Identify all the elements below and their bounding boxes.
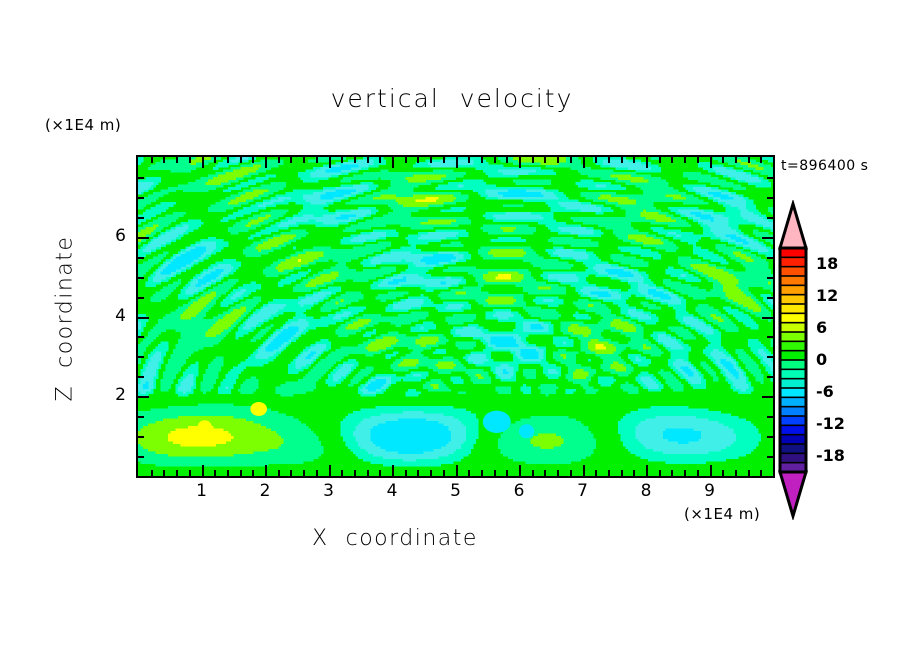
x-tick-mark (506, 470, 508, 476)
y-tick-mark (767, 197, 773, 199)
x-tick-label: 9 (695, 481, 725, 501)
colorbar-band (780, 425, 806, 435)
x-tick-label: 4 (377, 481, 407, 501)
colorbar-band (780, 332, 806, 342)
x-tick-mark (456, 157, 458, 168)
x-tick-mark (760, 470, 762, 476)
x-tick-mark (532, 470, 534, 476)
x-tick-mark (722, 157, 724, 163)
colorbar-band (780, 369, 806, 379)
x-tick-mark (468, 157, 470, 163)
x-tick-mark (646, 157, 648, 168)
colorbar-band (780, 397, 806, 407)
x-tick-mark (443, 470, 445, 476)
colorbar-band (780, 360, 806, 370)
x-tick-mark (748, 157, 750, 163)
x-tick-mark (367, 470, 369, 476)
x-tick-mark (341, 470, 343, 476)
x-tick-mark (671, 157, 673, 163)
colorbar-band (780, 323, 806, 333)
y-tick-mark (138, 396, 149, 398)
contour-core (483, 411, 511, 433)
x-tick-mark (392, 157, 394, 168)
colorbar-band (780, 388, 806, 398)
x-tick-mark (583, 157, 585, 168)
x-tick-mark (595, 470, 597, 476)
x-tick-mark (456, 465, 458, 476)
colorbar-band (780, 276, 806, 286)
x-tick-mark (290, 470, 292, 476)
x-tick-mark (252, 470, 254, 476)
colorbar-band (780, 257, 806, 267)
x-tick-mark (176, 470, 178, 476)
x-tick-mark (329, 157, 331, 168)
x-tick-mark (481, 157, 483, 163)
x-tick-label: 7 (568, 481, 598, 501)
colorbar-over-arrow (780, 204, 806, 248)
colorbar-gradient (770, 200, 900, 520)
x-tick-mark (494, 157, 496, 163)
y-tick-mark (138, 217, 144, 219)
colorbar-band (780, 453, 806, 463)
x-tick-mark (506, 157, 508, 163)
colorbar-band (780, 416, 806, 426)
y-tick-mark (138, 277, 144, 279)
colorbar-band (780, 285, 806, 295)
colorbar-band (780, 341, 806, 351)
x-tick-mark (684, 470, 686, 476)
colorbar-tick-label: 18 (816, 254, 838, 273)
colorbar-band (780, 313, 806, 323)
x-tick-mark (329, 465, 331, 476)
x-tick-mark (710, 465, 712, 476)
x-tick-mark (760, 157, 762, 163)
y-tick-label: 2 (96, 385, 126, 405)
y-tick-mark (138, 257, 144, 259)
colorbar-band (780, 407, 806, 417)
x-tick-mark (659, 470, 661, 476)
x-tick-mark (608, 470, 610, 476)
x-tick-mark (570, 157, 572, 163)
colorbar-band (780, 295, 806, 305)
x-tick-mark (202, 465, 204, 476)
x-tick-mark (316, 157, 318, 163)
chart-root: vertical velocity (×1E4 m) (×1E4 m) t=89… (0, 0, 904, 654)
x-tick-mark (557, 157, 559, 163)
x-tick-mark (430, 470, 432, 476)
y-tick-mark (138, 317, 149, 319)
x-tick-mark (481, 470, 483, 476)
x-tick-mark (595, 157, 597, 163)
x-tick-mark (303, 157, 305, 163)
y-tick-mark (138, 376, 144, 378)
x-tick-mark (684, 157, 686, 163)
x-tick-label: 1 (187, 481, 217, 501)
x-tick-mark (570, 470, 572, 476)
y-tick-mark (138, 177, 144, 179)
x-tick-mark (252, 157, 254, 163)
colorbar-band (780, 304, 806, 314)
x-tick-mark (354, 470, 356, 476)
y-tick-label: 4 (96, 306, 126, 326)
colorbar-tick-label: 6 (816, 318, 827, 337)
x-tick-mark (633, 470, 635, 476)
y-tick-mark (138, 197, 144, 199)
y-tick-mark (138, 297, 144, 299)
x-tick-mark (621, 470, 623, 476)
colorbar-tick-label: 0 (816, 350, 827, 369)
y-tick-mark (138, 336, 144, 338)
y-axis-unit-label: (×1E4 m) (45, 116, 121, 134)
x-tick-mark (341, 157, 343, 163)
x-tick-mark (240, 157, 242, 163)
x-tick-mark (633, 157, 635, 163)
contour-core (519, 424, 534, 438)
colorbar-band (780, 435, 806, 445)
colorbar-tick-label: 12 (816, 286, 838, 305)
x-tick-mark (748, 470, 750, 476)
x-tick-mark (202, 157, 204, 168)
x-tick-mark (151, 157, 153, 163)
x-tick-mark (354, 157, 356, 163)
x-tick-mark (290, 157, 292, 163)
x-tick-mark (392, 465, 394, 476)
plot-area (136, 155, 775, 478)
x-tick-mark (519, 157, 521, 168)
y-tick-mark (138, 416, 144, 418)
x-tick-label: 8 (631, 481, 661, 501)
x-axis-title: X coordinate (0, 526, 790, 551)
y-tick-mark (138, 456, 144, 458)
x-tick-mark (278, 157, 280, 163)
x-tick-mark (163, 157, 165, 163)
colorbar-tick-label: -12 (816, 414, 845, 433)
x-tick-mark (417, 470, 419, 476)
x-tick-mark (544, 157, 546, 163)
x-tick-mark (519, 465, 521, 476)
x-tick-mark (227, 157, 229, 163)
contour-field (138, 157, 773, 476)
x-tick-mark (494, 470, 496, 476)
x-tick-label: 6 (504, 481, 534, 501)
x-tick-mark (710, 157, 712, 168)
colorbar-under-arrow (780, 472, 806, 516)
y-tick-mark (138, 436, 144, 438)
y-tick-mark (138, 237, 149, 239)
x-tick-mark (265, 157, 267, 168)
x-tick-mark (544, 470, 546, 476)
x-tick-mark (697, 470, 699, 476)
colorbar-band (780, 351, 806, 361)
colorbar-tick-label: -18 (816, 446, 845, 465)
x-tick-mark (659, 157, 661, 163)
x-tick-mark (405, 157, 407, 163)
x-tick-mark (214, 157, 216, 163)
x-tick-label: 2 (250, 481, 280, 501)
x-tick-label: 3 (314, 481, 344, 501)
x-tick-label: 5 (441, 481, 471, 501)
x-tick-mark (227, 470, 229, 476)
x-tick-mark (189, 470, 191, 476)
x-tick-mark (189, 157, 191, 163)
x-tick-mark (176, 157, 178, 163)
x-tick-mark (214, 470, 216, 476)
y-tick-label: 6 (96, 226, 126, 246)
x-tick-mark (583, 465, 585, 476)
y-axis-title: Z coordinate (53, 219, 78, 419)
colorbar-band (780, 379, 806, 389)
colorbar-band (780, 267, 806, 277)
x-tick-mark (379, 157, 381, 163)
timestamp-annotation: t=896400 s (781, 158, 868, 174)
x-tick-mark (735, 470, 737, 476)
contour-core (250, 402, 267, 416)
x-tick-mark (303, 470, 305, 476)
x-tick-mark (468, 470, 470, 476)
x-tick-mark (405, 470, 407, 476)
x-tick-mark (163, 470, 165, 476)
colorbar: 181260-6-12-18 (770, 200, 900, 520)
y-tick-mark (138, 356, 144, 358)
x-tick-mark (278, 470, 280, 476)
x-tick-mark (430, 157, 432, 163)
colorbar-tick-label: -6 (816, 382, 834, 401)
x-tick-mark (443, 157, 445, 163)
x-tick-mark (621, 157, 623, 163)
x-tick-mark (557, 470, 559, 476)
colorbar-band (780, 444, 806, 454)
x-tick-mark (417, 157, 419, 163)
page-title: vertical velocity (0, 84, 904, 113)
x-tick-mark (151, 470, 153, 476)
x-tick-mark (697, 157, 699, 163)
x-tick-mark (316, 470, 318, 476)
x-tick-mark (646, 465, 648, 476)
x-axis-unit-label: (×1E4 m) (684, 505, 760, 523)
x-tick-mark (240, 470, 242, 476)
x-tick-mark (379, 470, 381, 476)
y-tick-mark (767, 177, 773, 179)
x-tick-mark (671, 470, 673, 476)
x-tick-mark (265, 465, 267, 476)
x-tick-mark (722, 470, 724, 476)
x-tick-mark (608, 157, 610, 163)
x-tick-mark (735, 157, 737, 163)
contour-core (198, 420, 212, 433)
x-tick-mark (367, 157, 369, 163)
x-tick-mark (532, 157, 534, 163)
